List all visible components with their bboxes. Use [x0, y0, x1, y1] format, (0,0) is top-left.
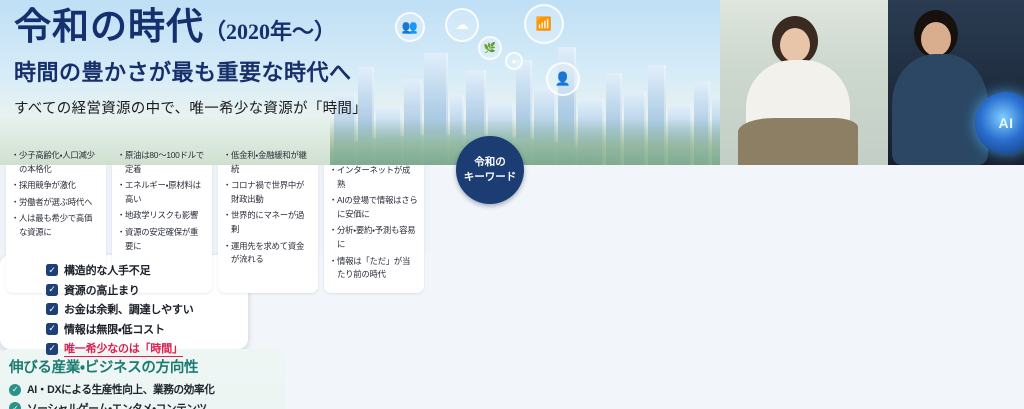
- growth-title: 伸びる産業・ビジネスの方向性: [9, 356, 276, 377]
- bullet-item: 少子高齢化・人口減少の本格化: [12, 149, 100, 176]
- bullet-item: AIの登場で情報はさらに安価に: [330, 194, 418, 221]
- column-bullets: インターネットが成熟 AIの登場で情報はさらに安価に 分析・要約・予測も容易に …: [330, 164, 418, 282]
- bullet-item: 世界的にマネーが過剰: [224, 209, 312, 236]
- ai-orb-label: AI: [999, 115, 1014, 131]
- bullet-item: 原油は80〜100ドルで定着: [118, 149, 206, 176]
- bullet-item: 資源の安定確保が重要に: [118, 226, 206, 253]
- keyword-label: 構造的な人手不足: [64, 262, 150, 278]
- bullet-item: コロナ禍で世界中が財政出動: [224, 179, 312, 206]
- check-icon: ✓: [46, 284, 58, 296]
- hero-banner: 👥 ☁ 📶 🌿 👤 ● AI 令和の時代（2020年〜） 時間の豊かさが最も重要…: [0, 0, 1024, 165]
- bullet-item: 地政学リスクも影響: [118, 209, 206, 223]
- check-icon: ✓: [9, 384, 21, 396]
- growth-industries-panel: 伸びる産業・ビジネスの方向性 ✓ AI・DXによる生産性向上、業務の効率化 ✓ …: [0, 349, 285, 409]
- person-icon: 👤: [546, 62, 580, 96]
- bullet-item: インターネットが成熟: [330, 164, 418, 191]
- keyword-label: 唯一希少なのは「時間」: [64, 340, 183, 357]
- column-bullets: 低金利・金融緩和が継続 コロナ禍で世界中が財政出動 世界的にマネーが過剰 運用先…: [224, 149, 312, 267]
- hero-headline: 令和の時代（2020年〜） 時間の豊かさが最も重要な時代へ すべての経営資源の中…: [14, 8, 374, 118]
- green-park-strip: [330, 119, 760, 165]
- people-icon: 👥: [395, 12, 425, 42]
- check-icon: ✓: [46, 264, 58, 276]
- keyword-label: 情報は無限・低コスト: [64, 321, 165, 337]
- leaf-icon: 🌿: [478, 36, 502, 60]
- bullet-item: 人は最も希少で高価な資源に: [12, 212, 100, 239]
- badge-line-1: 令和の: [474, 155, 506, 170]
- woman-with-smartphone-photo: [720, 0, 890, 165]
- title-year: （2020年〜）: [204, 19, 336, 44]
- page-note: すべての経営資源の中で、唯一希少な資源が「時間」: [14, 97, 374, 118]
- check-icon: ✓: [46, 343, 58, 355]
- bullet-item: 分析・要約・予測も容易に: [330, 224, 418, 251]
- keyword-label: 資源の高止まり: [64, 282, 140, 298]
- infographic-page: 👥 ☁ 📶 🌿 👤 ● AI 令和の時代（2020年〜） 時間の豊かさが最も重要…: [0, 0, 1024, 409]
- bullet-item: 採用競争が激化: [12, 179, 100, 193]
- growth-item: ✓ ソーシャルゲーム・エンタメ・コンテンツ: [9, 401, 276, 409]
- bullet-item: 運用先を求めて資金が流れる: [224, 240, 312, 267]
- bullet-item: 労働者が選ぶ時代へ: [12, 196, 100, 210]
- bullet-item: エネルギー・原材料は高い: [118, 179, 206, 206]
- cloud-icon: ☁: [445, 8, 479, 42]
- keywords-badge: 令和の キーワード: [456, 136, 524, 204]
- keyword-label: お金は余剰、調達しやすい: [64, 301, 194, 317]
- page-subtitle: 時間の豊かさが最も重要な時代へ: [14, 55, 374, 87]
- check-icon: ✓: [46, 323, 58, 335]
- growth-label: AI・DXによる生産性向上、業務の効率化: [27, 382, 215, 397]
- column-bullets: 少子高齢化・人口減少の本格化 採用競争が激化 労働者が選ぶ時代へ 人は最も希少で…: [12, 149, 100, 240]
- network-icon: ●: [505, 52, 523, 70]
- keyword-item: ✓ 情報は無限・低コスト: [46, 321, 240, 337]
- column-bullets: 原油は80〜100ドルで定着 エネルギー・原材料は高い 地政学リスクも影響 資源…: [118, 149, 206, 253]
- growth-label: ソーシャルゲーム・エンタメ・コンテンツ: [27, 401, 207, 409]
- page-title: 令和の時代（2020年〜）: [14, 8, 374, 47]
- wifi-icon: 📶: [524, 4, 564, 44]
- check-icon: ✓: [46, 303, 58, 315]
- badge-line-2: キーワード: [464, 170, 517, 185]
- bullet-item: 低金利・金融緩和が継続: [224, 149, 312, 176]
- bullet-item: 情報は「ただ」が当たり前の時代: [330, 255, 418, 282]
- growth-item: ✓ AI・DXによる生産性向上、業務の効率化: [9, 382, 276, 397]
- check-icon: ✓: [9, 402, 21, 409]
- keyword-item: ✓ お金は余剰、調達しやすい: [46, 301, 240, 317]
